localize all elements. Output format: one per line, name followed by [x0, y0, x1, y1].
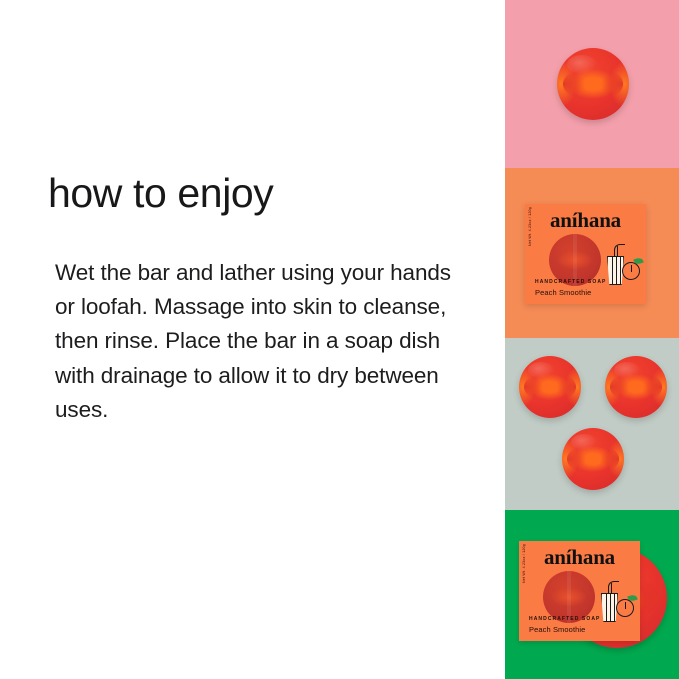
box-face: aníhana Net Wt. 4.23oz / 120g [525, 204, 646, 304]
peach-fruit-icon [622, 262, 640, 280]
soap-bar [519, 356, 581, 418]
glass-line-icon [612, 257, 613, 284]
product-box: aníhana Net Wt. 4.23oz / 120g [525, 204, 646, 304]
net-weight-label: Net Wt. 4.23oz / 120g [522, 537, 526, 583]
page-title: how to enjoy [48, 172, 273, 215]
glass-line-icon [606, 594, 607, 621]
instructions-paragraph: Wet the bar and lather using your hands … [55, 256, 473, 427]
peach-crease-icon [631, 265, 632, 272]
product-box: aníhana Net Wt. 4.23oz / 120g [519, 541, 640, 641]
leaf-icon [633, 257, 643, 265]
soap-bar [557, 48, 629, 120]
net-weight-label: Net Wt. 4.23oz / 120g [528, 200, 532, 246]
brand-logo: aníhana [525, 210, 646, 231]
panel-soap-on-pink [505, 0, 679, 168]
glass-line-icon [620, 257, 621, 284]
glass-line-icon [610, 594, 611, 621]
glass-line-icon [616, 257, 617, 284]
soap-bar [605, 356, 667, 418]
panel-box-on-orange: aníhana Net Wt. 4.23oz / 120g [505, 168, 679, 338]
peach-crease-icon [625, 602, 626, 609]
panel-box-and-soap-on-green: aníhana Net Wt. 4.23oz / 120g [505, 510, 679, 679]
handcrafted-label: HANDCRAFTED SOAP [535, 279, 607, 285]
soap-bar [562, 428, 624, 490]
glass-line-icon [614, 594, 615, 621]
leaf-icon [627, 594, 637, 602]
box-face: aníhana Net Wt. 4.23oz / 120g [519, 541, 640, 641]
how-to-enjoy-text-panel: how to enjoy Wet the bar and lather usin… [0, 0, 505, 679]
variant-label: Peach Smoothie [535, 288, 591, 297]
panel-three-soaps-on-grey [505, 338, 679, 510]
product-image-strip: aníhana Net Wt. 4.23oz / 120g [505, 0, 679, 679]
variant-label: Peach Smoothie [529, 625, 585, 634]
peach-fruit-icon [616, 599, 634, 617]
handcrafted-label: HANDCRAFTED SOAP [529, 616, 601, 622]
brand-logo: aníhana [519, 547, 640, 568]
product-detail-image: how to enjoy Wet the bar and lather usin… [0, 0, 679, 679]
